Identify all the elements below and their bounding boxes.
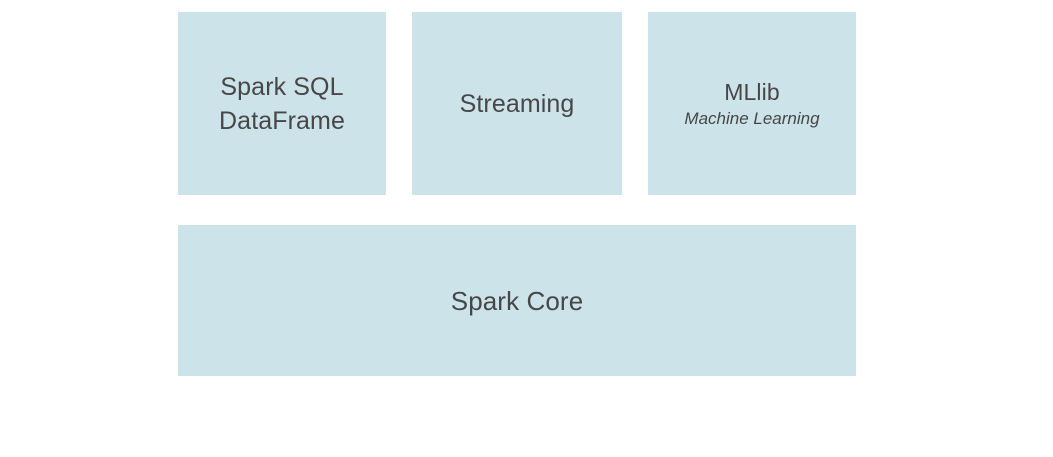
- layer-box-spark-sql-title-line-2: DataFrame: [219, 104, 345, 138]
- layer-box-streaming-title: Streaming: [460, 87, 575, 121]
- foundation-box-spark-core[interactable]: Spark Core: [178, 225, 856, 376]
- layer-box-spark-sql-text: Spark SQL DataFrame: [219, 70, 345, 138]
- layer-box-mllib-subtitle: Machine Learning: [684, 107, 819, 131]
- foundation-box-spark-core-title: Spark Core: [451, 284, 584, 318]
- layer-box-mllib-text: MLlib Machine Learning: [684, 77, 819, 131]
- foundation-box-spark-core-text: Spark Core: [451, 284, 584, 318]
- layer-box-spark-sql-title-line-1: Spark SQL: [220, 70, 343, 104]
- spark-stack-diagram: Spark SQL DataFrame Streaming MLlib Mach…: [0, 0, 1053, 457]
- layer-box-streaming-text: Streaming: [460, 87, 575, 121]
- layer-box-spark-sql[interactable]: Spark SQL DataFrame: [178, 12, 386, 195]
- layer-box-mllib[interactable]: MLlib Machine Learning: [648, 12, 856, 195]
- layer-box-streaming[interactable]: Streaming: [412, 12, 622, 195]
- layer-box-mllib-title: MLlib: [724, 77, 779, 107]
